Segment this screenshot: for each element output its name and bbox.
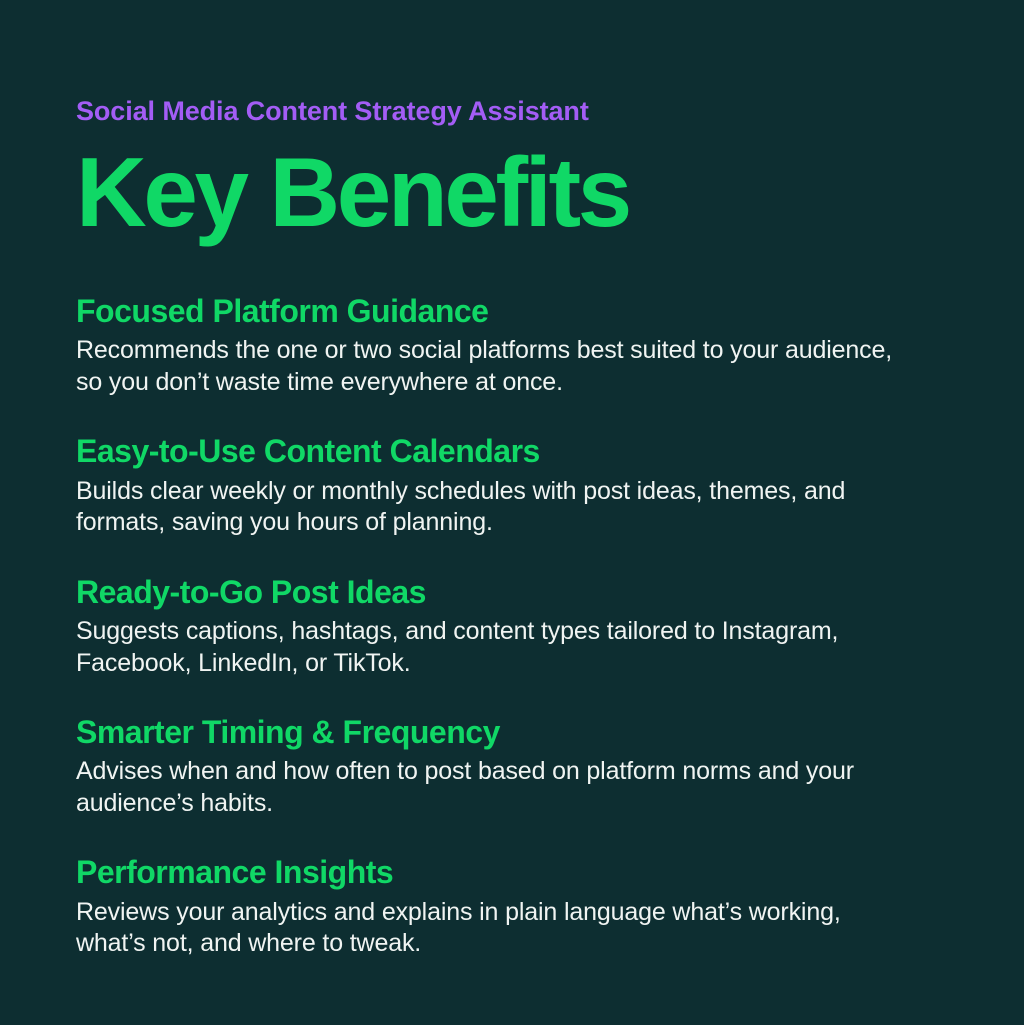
content-column: Social Media Content Strategy Assistant …: [76, 96, 916, 960]
benefit-item: Easy-to-Use Content Calendars Builds cle…: [76, 432, 916, 538]
eyebrow-subtitle: Social Media Content Strategy Assistant: [76, 96, 916, 128]
benefits-list: Focused Platform Guidance Recommends the…: [76, 292, 916, 960]
benefit-body: Suggests captions, hashtags, and content…: [76, 616, 916, 679]
benefit-heading: Smarter Timing & Frequency: [76, 713, 916, 751]
benefit-heading: Ready-to-Go Post Ideas: [76, 573, 916, 611]
benefit-item: Focused Platform Guidance Recommends the…: [76, 292, 916, 398]
benefit-item: Ready-to-Go Post Ideas Suggests captions…: [76, 573, 916, 679]
benefit-heading: Performance Insights: [76, 853, 916, 891]
page-title: Key Benefits: [76, 144, 916, 240]
benefit-body: Builds clear weekly or monthly schedules…: [76, 476, 916, 539]
slide-canvas: Social Media Content Strategy Assistant …: [0, 0, 1024, 1025]
benefit-item: Smarter Timing & Frequency Advises when …: [76, 713, 916, 819]
benefit-item: Performance Insights Reviews your analyt…: [76, 853, 916, 959]
benefit-body: Recommends the one or two social platfor…: [76, 335, 916, 398]
benefit-body: Advises when and how often to post based…: [76, 756, 916, 819]
benefit-heading: Focused Platform Guidance: [76, 292, 916, 330]
benefit-heading: Easy-to-Use Content Calendars: [76, 432, 916, 470]
benefit-body: Reviews your analytics and explains in p…: [76, 897, 916, 960]
